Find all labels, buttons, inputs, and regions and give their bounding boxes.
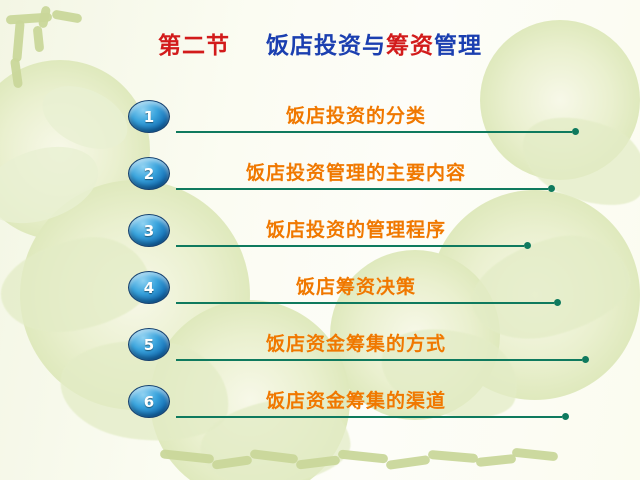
title-main-part3: 管理: [434, 33, 482, 59]
list-item-label: 饭店投资管理的主要内容: [174, 158, 538, 185]
list-item-number-badge: 4: [128, 271, 170, 304]
list-item-end-dot: [524, 242, 531, 249]
list-item[interactable]: 5 饭店资金筹集的方式: [128, 328, 538, 368]
title-main-part1: 饭店投资与: [266, 33, 386, 59]
list-item-label: 饭店投资的分类: [174, 101, 538, 128]
list-item[interactable]: 1 饭店投资的分类: [128, 100, 538, 140]
list-item-underline: [176, 302, 554, 304]
list-item-end-dot: [548, 185, 555, 192]
slide-title: 第二节 饭店投资与筹资管理: [0, 26, 640, 60]
list-item-number-badge: 1: [128, 100, 170, 133]
list-item-number-badge: 2: [128, 157, 170, 190]
list-item-underline: [176, 131, 572, 133]
list-item-underline: [176, 245, 524, 247]
list-item-label: 饭店资金筹集的方式: [174, 329, 538, 356]
list-item[interactable]: 3 饭店投资的管理程序: [128, 214, 538, 254]
list-item-label: 饭店资金筹集的渠道: [174, 386, 538, 413]
list-item[interactable]: 2 饭店投资管理的主要内容: [128, 157, 538, 197]
title-main-part2: 筹资: [386, 33, 434, 59]
title-section-label: 第二节: [158, 33, 230, 59]
list-item-end-dot: [554, 299, 561, 306]
list-item-underline: [176, 359, 582, 361]
list-item-number-badge: 5: [128, 328, 170, 361]
list-item-number-badge: 6: [128, 385, 170, 418]
list-item-label: 饭店投资的管理程序: [174, 215, 538, 242]
title-gap: [230, 33, 266, 59]
slide-canvas: 第二节 饭店投资与筹资管理 1 饭店投资的分类 2 饭店投资管理的主要内容 3 …: [0, 0, 640, 480]
list-item-underline: [176, 416, 562, 418]
list-item-end-dot: [562, 413, 569, 420]
list-item-underline: [176, 188, 548, 190]
list-item-end-dot: [572, 128, 579, 135]
list-item-number-badge: 3: [128, 214, 170, 247]
list-item[interactable]: 4 饭店筹资决策: [128, 271, 538, 311]
list-item-end-dot: [582, 356, 589, 363]
list-item[interactable]: 6 饭店资金筹集的渠道: [128, 385, 538, 425]
list-item-label: 饭店筹资决策: [174, 272, 538, 299]
